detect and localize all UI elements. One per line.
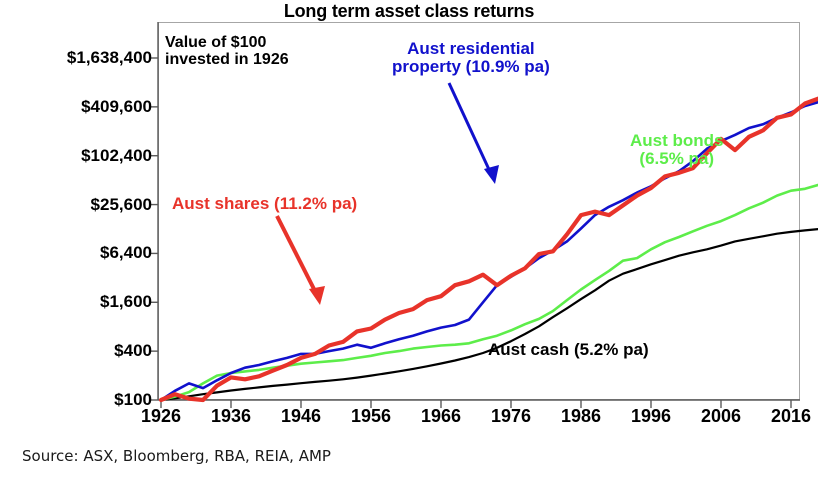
property-line-1: Aust residential [407,39,535,58]
x-axis-tick-label: 1996 [631,406,671,427]
x-axis-tick-label: 2006 [701,406,741,427]
note-line-2: invested in 1926 [165,51,289,68]
x-axis-tick-label: 1966 [421,406,461,427]
shares-series-annotation: Aust shares (11.2% pa) [172,195,357,213]
chart-root: Long term asset class returns $100$400$1… [0,0,818,478]
x-axis-tick-label: 1946 [281,406,321,427]
bonds-line-2: (6.5% pa) [639,149,714,168]
y-axis-labels: $100$400$1,600$6,400$25,600$102,400$409,… [0,0,152,478]
bonds-series-annotation: Aust bonds (6.5% pa) [630,132,724,167]
note-line-1: Value of $100 [165,34,266,51]
cash-series-annotation: Aust cash (5.2% pa) [488,341,649,359]
source-caption: Source: ASX, Bloomberg, RBA, REIA, AMP [22,447,331,465]
x-axis-tick-label: 1976 [491,406,531,427]
x-axis-tick-label: 1956 [351,406,391,427]
x-axis-tick-label: 1986 [561,406,601,427]
property-series-annotation: Aust residential property (10.9% pa) [392,40,550,75]
property-line-2: property (10.9% pa) [392,57,550,76]
y-axis-tick-label: $1,600 [4,292,152,312]
y-axis-tick-label: $400 [4,341,152,361]
y-axis-tick-label: $6,400 [4,243,152,263]
y-axis-tick-label: $1,638,400 [4,48,152,68]
bonds-line-1: Aust bonds [630,131,724,150]
y-axis-tick-label: $102,400 [4,146,152,166]
x-axis-tick-label: 2016 [771,406,811,427]
x-axis-tick-label: 1926 [141,406,181,427]
y-axis-tick-label: $409,600 [4,97,152,117]
y-axis-tick-label: $100 [4,390,152,410]
x-axis-tick-label: 1936 [211,406,251,427]
value-note-annotation: Value of $100 invested in 1926 [165,35,289,68]
y-axis-tick-label: $25,600 [4,195,152,215]
